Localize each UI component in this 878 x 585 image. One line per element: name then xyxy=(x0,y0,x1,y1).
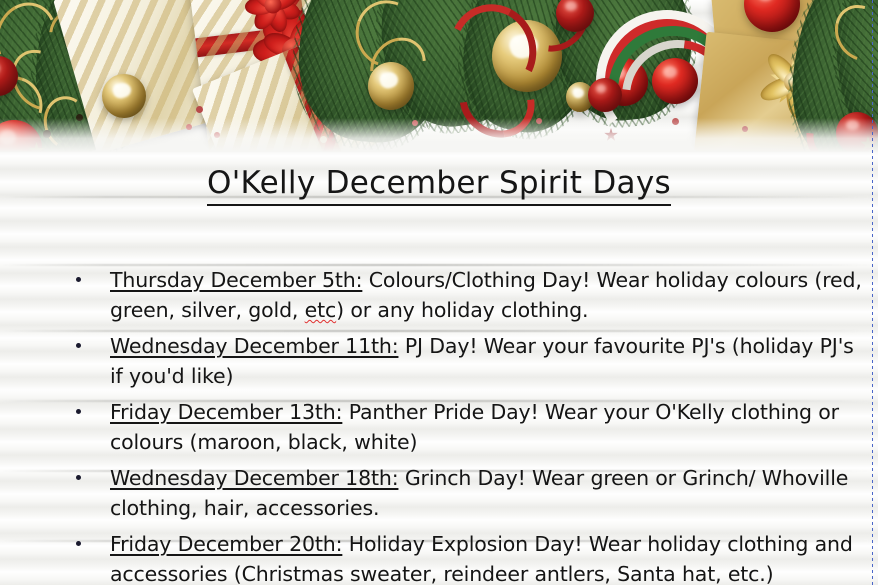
list-item: Thursday December 5th: Colours/Clothing … xyxy=(62,265,862,325)
spirit-day-date: Friday December 13th: xyxy=(110,400,342,424)
border-fade-overlay xyxy=(0,118,878,152)
spirit-days-slide: O'Kelly December Spirit Days Thursday De… xyxy=(0,0,878,585)
bullet-icon xyxy=(76,541,81,546)
christmas-border-decoration xyxy=(0,0,878,152)
gold-bauble-icon xyxy=(368,62,414,110)
red-bauble-icon xyxy=(588,78,622,112)
spirit-day-date: Thursday December 5th: xyxy=(110,268,362,292)
bullet-icon xyxy=(76,277,81,282)
bullet-icon xyxy=(76,343,81,348)
list-item: Wednesday December 11th: PJ Day! Wear yo… xyxy=(62,331,862,391)
gold-bauble-icon xyxy=(102,74,146,118)
spirit-day-date: Friday December 20th: xyxy=(110,532,342,556)
bullet-icon xyxy=(76,409,81,414)
confetti-dot-icon xyxy=(196,106,203,113)
spirit-days-list: Thursday December 5th: Colours/Clothing … xyxy=(62,265,862,585)
slide-title: O'Kelly December Spirit Days xyxy=(0,166,878,206)
slide-edge-marker xyxy=(872,0,873,585)
list-item: Friday December 13th: Panther Pride Day!… xyxy=(62,397,862,457)
misspelled-word: etc xyxy=(305,298,336,322)
spirit-day-date: Wednesday December 18th: xyxy=(110,466,398,490)
spirit-day-description-cont: ) or any holiday clothing. xyxy=(336,298,588,322)
spirit-day-date: Wednesday December 11th: xyxy=(110,334,398,358)
list-item: Friday December 20th: Holiday Explosion … xyxy=(62,529,862,585)
bullet-icon xyxy=(76,475,81,480)
red-bauble-icon xyxy=(652,58,698,104)
slide-title-text: O'Kelly December Spirit Days xyxy=(207,166,671,206)
list-item: Wednesday December 18th: Grinch Day! Wea… xyxy=(62,463,862,523)
